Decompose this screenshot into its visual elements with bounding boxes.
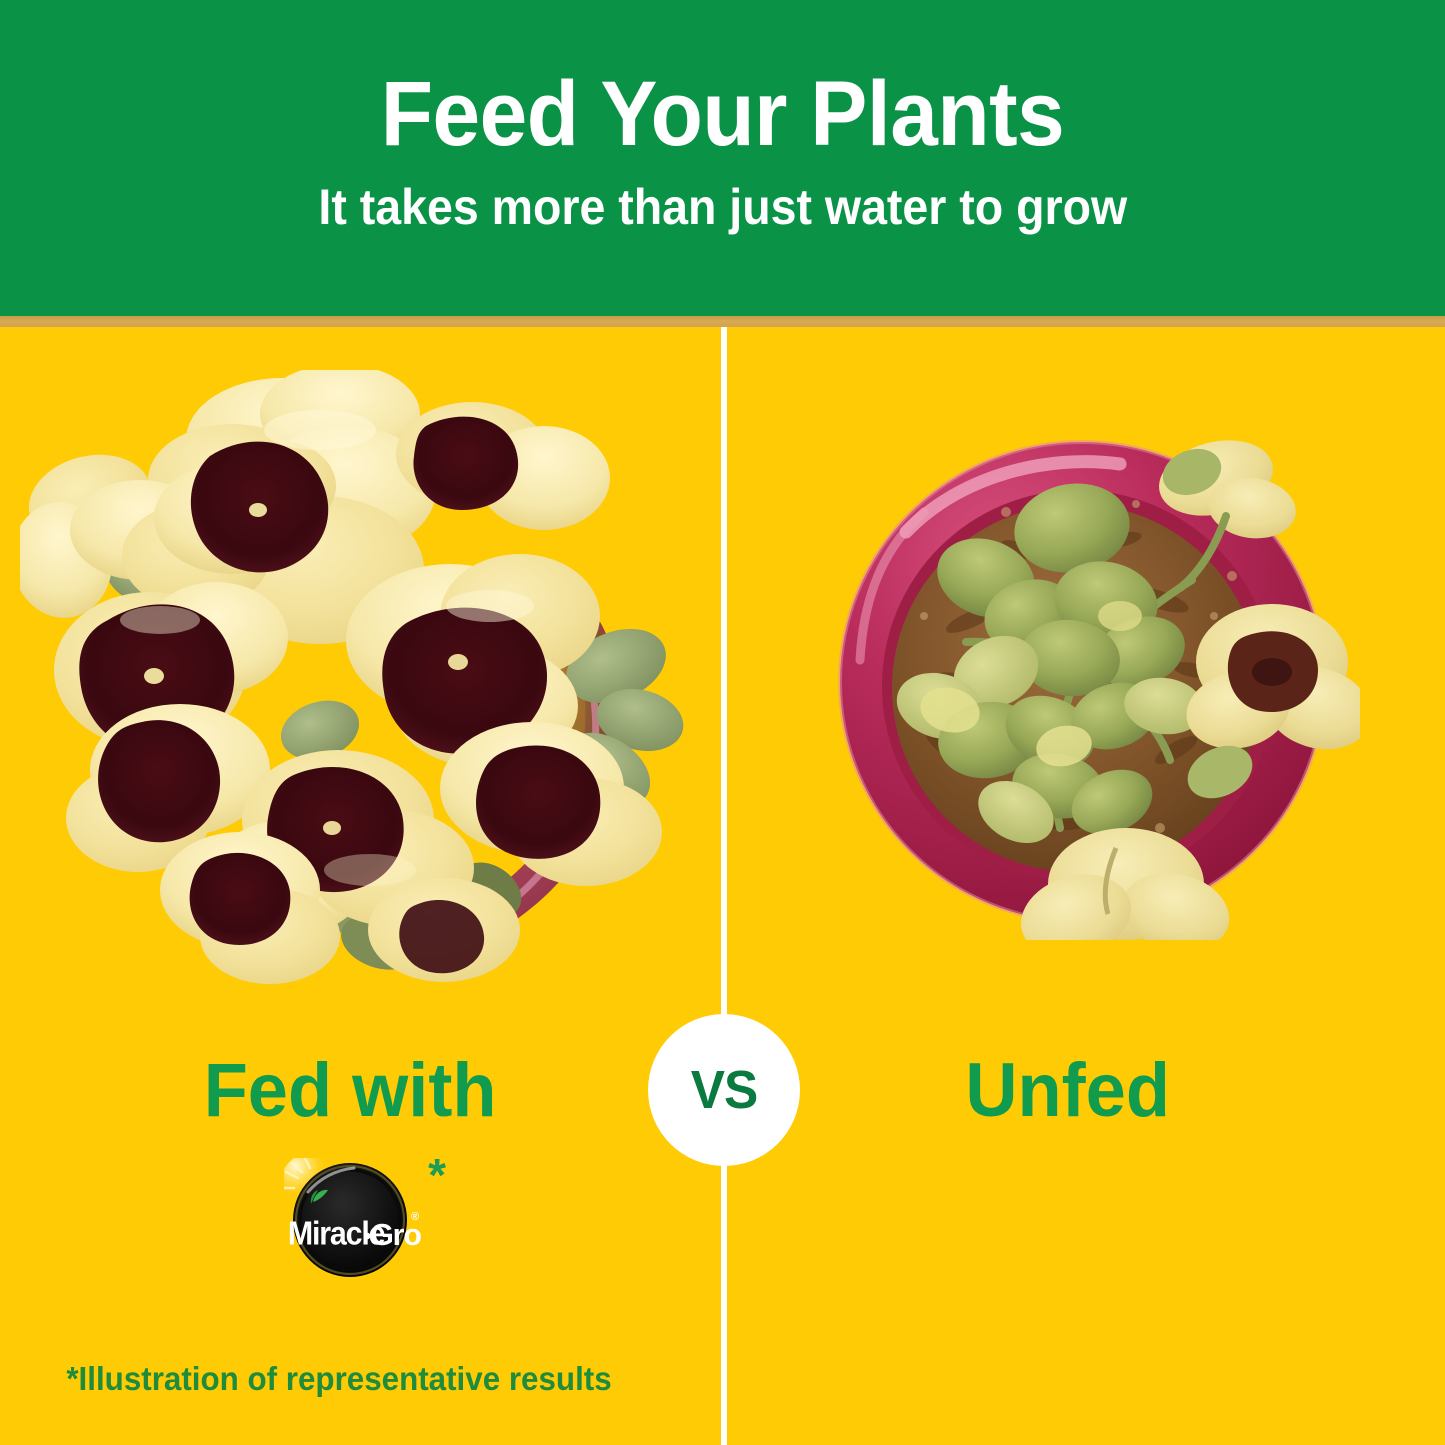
miracle-gro-logo: Miracle Gro ® * [284,1158,434,1293]
caption-unfed: Unfed [965,1053,1170,1129]
page-subtitle: It takes more than just water to grow [318,182,1127,232]
vertical-divider [721,327,727,1445]
vs-badge: VS [648,1014,800,1166]
miracle-gro-wordmark: Miracle Gro ® [288,1211,421,1252]
footnote-disclaimer: *Illustration of representative results [66,1360,611,1398]
fed-plant-image [20,370,700,1010]
infographic-canvas: Feed Your Plants It takes more than just… [0,0,1445,1445]
fed-plant-illustration [20,370,700,1010]
caption-fed-with: Fed with [204,1053,497,1129]
page-title: Feed Your Plants [381,68,1065,160]
unfed-plant-illustration [820,420,1360,940]
header-banner: Feed Your Plants It takes more than just… [0,0,1445,316]
trademark-symbol: ® [411,1211,419,1223]
asterisk-marker: * [428,1152,446,1198]
vs-label: VS [691,1059,758,1121]
gold-divider-band [0,316,1445,327]
unfed-plant-image [820,420,1360,940]
pansy-bloom [368,878,520,982]
miracle-gro-badge: Miracle Gro ® [284,1158,434,1293]
